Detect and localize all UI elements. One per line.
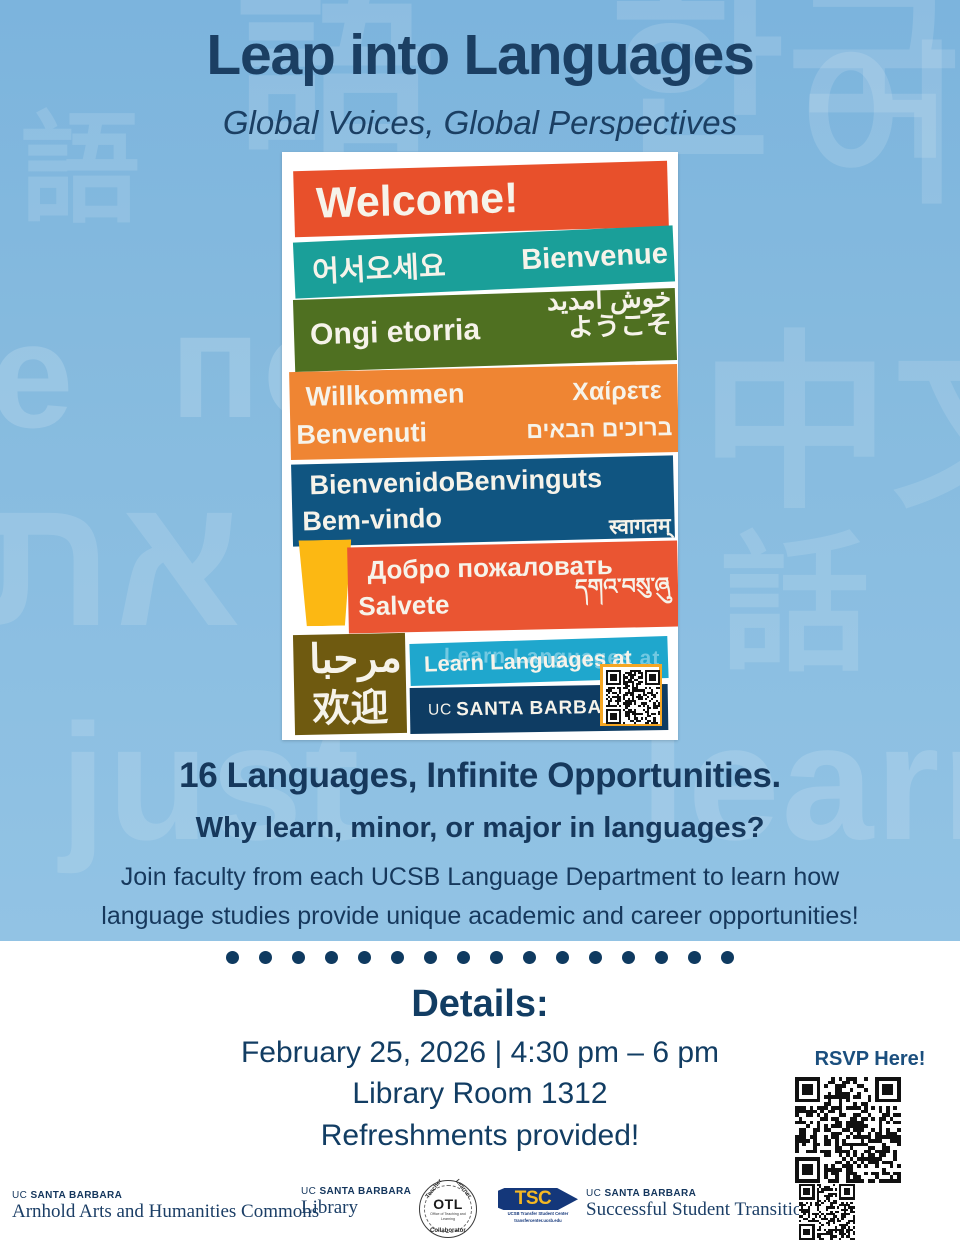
divider-dot [358, 951, 371, 964]
watermark-glyph: 中文 [700, 330, 960, 520]
flyer-yellow-wedge [295, 540, 352, 627]
divider-dot [589, 951, 602, 964]
flyer-text-hebrew: ברוכים הבאים [526, 414, 673, 444]
divider-dot [259, 951, 272, 964]
watermark-glyph: את [0, 470, 243, 655]
logo-otl-seal: Teacher Learner Collaborator OTL Office … [419, 1180, 477, 1238]
subheadline: Why learn, minor, or major in languages? [0, 812, 960, 845]
body-copy: Join faculty from each UCSB Language Dep… [30, 858, 930, 936]
welcome-flyer-image: Welcome! 어서오세요 Bienvenue Ongi etorria خو… [282, 152, 678, 740]
flyer-text-uc: UC [428, 701, 452, 719]
footer-qr-code[interactable] [799, 1184, 855, 1240]
flyer-text-french: Bienvenue [521, 237, 669, 277]
details-heading: Details: [0, 983, 960, 1026]
logo-unit-name: Successful Student Transitions [586, 1200, 819, 1221]
qr-modules [799, 1184, 855, 1240]
otl-arc-teacher: Teacher [425, 1178, 444, 1199]
flyer-band-teal: 어서오세요 Bienvenue [293, 225, 675, 298]
flyer-band-welcome: Welcome! [293, 161, 669, 237]
logo-library: UC SANTA BARBARA Library [301, 1186, 411, 1219]
divider-dot [292, 951, 305, 964]
flyer-text-chinese: 欢迎 [294, 676, 407, 733]
tsc-logo-icon: TSC UCSB Transfer Student Center transfe… [498, 1188, 578, 1224]
flyer-qr-code[interactable] [600, 664, 662, 726]
otl-mark: OTL [433, 1196, 463, 1212]
divider-dot [556, 951, 569, 964]
headline: 16 Languages, Infinite Opportunities. [0, 756, 960, 796]
divider-dot [490, 951, 503, 964]
rsvp-label: RSVP Here! [790, 1048, 950, 1071]
flyer-text-latin: Salvete [358, 589, 450, 622]
uc-wordmark: UC SANTA BARBARA [586, 1188, 819, 1199]
flyer-text-german: Willkommen [305, 378, 464, 412]
flyer-band-redorange: Добро пожаловать Salvete དགའ་བསུ་ཞུ [347, 541, 678, 634]
logo-successful-student-transitions: UC SANTA BARBARA Successful Student Tran… [586, 1188, 819, 1221]
tsc-caption: UCSB Transfer Student Center transfercen… [508, 1211, 569, 1224]
poster-root: e по-ру את 語 한국 어 中文 just learn 話 語 Leap… [0, 0, 960, 1243]
flyer-text-greek: Χαίρετε [572, 376, 662, 407]
uc-wordmark: UC SANTA BARBARA [12, 1190, 319, 1201]
divider-dot [457, 951, 470, 964]
flyer-text-farsi-japanese: خوش آمدید ようこそ [547, 288, 673, 343]
otl-arc-collaborator: Collaborator [430, 1228, 466, 1234]
divider-dot [655, 951, 668, 964]
logo-arnhold-arts-humanities-commons: UC SANTA BARBARA Arnhold Arts and Humani… [12, 1190, 319, 1223]
divider-dot [424, 951, 437, 964]
flyer-text-italian: Benvenuti [296, 417, 427, 451]
divider-dot [622, 951, 635, 964]
divider-dot [688, 951, 701, 964]
watermark-glyph: e [0, 300, 75, 450]
divider-dot [226, 951, 239, 964]
page-subtitle: Global Voices, Global Perspectives [0, 104, 960, 142]
logo-unit-name: Library [301, 1198, 411, 1219]
watermark-glyph: 話 [720, 530, 872, 680]
divider-dot [325, 951, 338, 964]
otl-subtitle: Office of Teaching and Learning [428, 1212, 468, 1223]
uc-wordmark: UC SANTA BARBARA [301, 1186, 411, 1197]
flyer-band-blue: BienvenidoBenvinguts Bem-vindo स्वागतम् [291, 455, 675, 546]
divider-dot [523, 951, 536, 964]
logo-unit-name: Arnhold Arts and Humanities Commons [12, 1202, 319, 1223]
divider-dot [391, 951, 404, 964]
otl-seal-icon: Teacher Learner Collaborator OTL Office … [419, 1180, 477, 1238]
flyer-band-brown: مرحبا 欢迎 [293, 633, 407, 735]
flyer-text-spanish-catalan: BienvenidoBenvinguts [309, 463, 602, 501]
qr-modules [606, 670, 660, 724]
dot-divider [0, 951, 960, 964]
rsvp-qr-code[interactable] [795, 1077, 945, 1183]
rsvp-block[interactable]: RSVP Here! [790, 1048, 950, 1183]
flyer-text-tibetan: དགའ་བསུ་ཞུ [574, 561, 670, 625]
body-line-1: Join faculty from each UCSB Language Dep… [30, 858, 930, 897]
logo-tsc: TSC UCSB Transfer Student Center transfe… [498, 1188, 578, 1224]
flyer-text-japanese: ようこそ [567, 309, 672, 342]
page-title: Leap into Languages [0, 22, 960, 88]
flyer-text-portuguese: Bem-vindo [302, 503, 442, 537]
flyer-band-orange: Willkommen Χαίρετε Benvenuti ברוכים הבאי… [289, 364, 678, 460]
body-line-2: language studies provide unique academic… [30, 897, 930, 936]
flyer-text-korean: 어서오세요 [311, 243, 446, 291]
tsc-mark: TSC [498, 1188, 578, 1210]
flyer-band-olive: Ongi etorria خوش آمدید ようこそ [293, 288, 677, 372]
qr-modules [795, 1077, 901, 1183]
flyer-text-welcome: Welcome! [315, 173, 519, 228]
flyer-text-basque: Ongi etorria [310, 313, 481, 352]
divider-dot [721, 951, 734, 964]
otl-arc-learner: Learner [454, 1178, 472, 1199]
flyer-text-hindi: स्वागतम् [609, 511, 671, 540]
